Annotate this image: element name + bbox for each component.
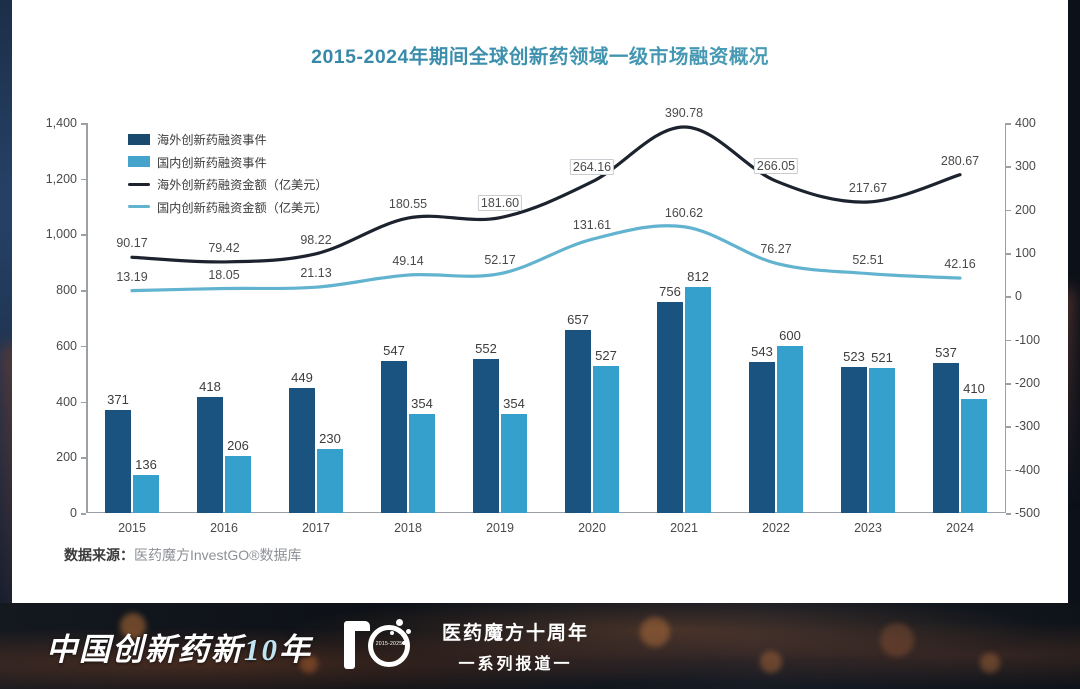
- bar-value-label: 552: [475, 341, 497, 356]
- y-axis-right-tick-label: -300: [1015, 419, 1040, 433]
- y-axis-right-tick-label: 400: [1015, 116, 1036, 130]
- screenshot-root: 2015-2024年期间全球创新药领域一级市场融资概况 海外创新药融资事件 国内…: [0, 0, 1080, 689]
- y-axis-right-tick: [1006, 210, 1011, 212]
- line-series-path: [132, 226, 960, 291]
- line-point-label: 181.60: [478, 195, 522, 211]
- y-axis-right-tick: [1006, 253, 1011, 255]
- banner-brand-suffix: 年: [279, 632, 312, 667]
- line-point-label: 131.61: [573, 218, 611, 232]
- line-point-label: 13.19: [116, 270, 147, 284]
- y-axis-left-tick-label: 600: [56, 339, 77, 353]
- x-axis-tick-label: 2015: [118, 521, 146, 535]
- bar-value-label: 521: [871, 350, 893, 365]
- line-series-path: [132, 127, 960, 262]
- bar-value-label: 756: [659, 284, 681, 299]
- source-label: 数据来源：: [64, 547, 134, 563]
- y-axis-right-tick-label: -200: [1015, 376, 1040, 390]
- y-axis-left-tick: [81, 513, 86, 515]
- y-axis-left-tick: [81, 179, 86, 181]
- bar-overseas-2022[interactable]: 543: [749, 362, 775, 513]
- y-axis-left-tick-label: 1,400: [46, 116, 77, 130]
- line-point-label: 180.55: [389, 197, 427, 211]
- line-point-label: 49.14: [392, 254, 423, 268]
- bar-overseas-2020[interactable]: 657: [565, 330, 591, 513]
- x-axis-tick-label: 2022: [762, 521, 790, 535]
- y-axis-left-tick: [81, 123, 86, 125]
- bar-overseas-2018[interactable]: 547: [381, 361, 407, 513]
- line-point-label: 79.42: [208, 241, 239, 255]
- line-point-label: 52.51: [852, 253, 883, 267]
- y-axis-right-tick: [1006, 166, 1011, 168]
- line-point-label: 42.16: [944, 257, 975, 271]
- y-axis-left-tick: [81, 402, 86, 404]
- bar-value-label: 537: [935, 345, 957, 360]
- y-axis-left-tick: [81, 457, 86, 459]
- bar-value-label: 657: [567, 312, 589, 327]
- bar-value-label: 418: [199, 379, 221, 394]
- bar-value-label: 354: [411, 396, 433, 411]
- x-axis-tick-label: 2018: [394, 521, 422, 535]
- banner-content: 中国创新药新10年 2015-2025 医药魔方十周年 一系列报道一: [0, 603, 1080, 689]
- line-point-label: 52.17: [484, 253, 515, 267]
- bar-overseas-2017[interactable]: 449: [289, 388, 315, 513]
- bar-value-label: 523: [843, 349, 865, 364]
- chart-card: 2015-2024年期间全球创新药领域一级市场融资概况 海外创新药融资事件 国内…: [12, 0, 1068, 603]
- y-axis-left-tick-label: 1,200: [46, 172, 77, 186]
- line-point-label: 264.16: [570, 159, 614, 175]
- y-axis-right-tick-label: 0: [1015, 289, 1022, 303]
- y-axis-right-tick: [1006, 296, 1011, 298]
- y-axis-right-tick: [1006, 340, 1011, 342]
- bar-value-label: 136: [135, 457, 157, 472]
- x-axis-tick-label: 2024: [946, 521, 974, 535]
- bar-value-label: 527: [595, 348, 617, 363]
- y-axis-right-tick: [1006, 383, 1011, 385]
- x-axis-tick-label: 2016: [210, 521, 238, 535]
- bar-domestic-2015[interactable]: 136: [133, 475, 159, 513]
- bar-overseas-2023[interactable]: 523: [841, 367, 867, 513]
- x-axis-tick-label: 2017: [302, 521, 330, 535]
- line-point-label: 160.62: [665, 206, 703, 220]
- bar-domestic-2022[interactable]: 600: [777, 346, 803, 513]
- line-point-label: 280.67: [941, 154, 979, 168]
- y-axis-right-tick-label: 300: [1015, 159, 1036, 173]
- line-point-label: 76.27: [760, 242, 791, 256]
- y-axis-right-tick-label: 100: [1015, 246, 1036, 260]
- banner-subbrand-line2: 一系列报道一: [459, 650, 573, 674]
- x-axis-tick-label: 2023: [854, 521, 882, 535]
- x-axis-tick-label: 2020: [578, 521, 606, 535]
- bar-domestic-2023[interactable]: 521: [869, 368, 895, 513]
- bar-overseas-2015[interactable]: 371: [105, 410, 131, 513]
- bar-domestic-2020[interactable]: 527: [593, 366, 619, 513]
- line-point-label: 21.13: [300, 266, 331, 280]
- bar-overseas-2024[interactable]: 537: [933, 363, 959, 513]
- bar-value-label: 812: [687, 269, 709, 284]
- banner-subbrand-line1: 医药魔方十周年: [442, 618, 589, 645]
- y-axis-left-tick-label: 400: [56, 395, 77, 409]
- bar-value-label: 354: [503, 396, 525, 411]
- bar-value-label: 371: [107, 392, 129, 407]
- chart-title: 2015-2024年期间全球创新药领域一级市场融资概况: [12, 40, 1068, 69]
- ten-year-logo-icon: 2015-2025: [338, 617, 416, 675]
- banner-subbrand: 医药魔方十周年 一系列报道一: [442, 618, 589, 674]
- banner-brand-title: 中国创新药新10年: [46, 624, 312, 669]
- y-axis-right-tick-label: 200: [1015, 203, 1036, 217]
- bar-value-label: 410: [963, 381, 985, 396]
- bar-value-label: 600: [779, 328, 801, 343]
- line-point-label: 98.22: [300, 233, 331, 247]
- source-note: 数据来源：医药魔方InvestGO®数据库: [64, 545, 301, 565]
- line-point-label: 266.05: [754, 158, 798, 174]
- banner-brand-prefix: 中国创新药新: [46, 632, 244, 667]
- bar-domestic-2021[interactable]: 812: [685, 287, 711, 513]
- y-axis-left-tick-label: 200: [56, 450, 77, 464]
- bar-domestic-2017[interactable]: 230: [317, 449, 343, 513]
- bar-value-label: 543: [751, 344, 773, 359]
- y-axis-right-tick: [1006, 513, 1011, 515]
- x-axis-tick-label: 2019: [486, 521, 514, 535]
- y-axis-right-tick-label: -500: [1015, 506, 1040, 520]
- logo-years: 2015-2025: [374, 641, 404, 647]
- bottom-banner: 中国创新药新10年 2015-2025 医药魔方十周年 一系列报道一: [0, 603, 1080, 689]
- y-axis-left-tick: [81, 290, 86, 292]
- y-axis-left-tick: [81, 346, 86, 348]
- bar-domestic-2016[interactable]: 206: [225, 456, 251, 513]
- y-axis-right-tick: [1006, 470, 1011, 472]
- bar-value-label: 449: [291, 370, 313, 385]
- bar-value-label: 206: [227, 438, 249, 453]
- bar-domestic-2024[interactable]: 410: [961, 399, 987, 513]
- line-point-label: 18.05: [208, 268, 239, 282]
- x-axis-tick-label: 2021: [670, 521, 698, 535]
- y-axis-left-tick-label: 0: [70, 506, 77, 520]
- source-value: 医药魔方InvestGO®数据库: [134, 547, 301, 563]
- y-axis-right-tick-label: -400: [1015, 463, 1040, 477]
- y-axis-left-tick-label: 1,000: [46, 227, 77, 241]
- plot-area: 02004006008001,0001,2001,400-500-400-300…: [86, 123, 1006, 513]
- y-axis-left-tick-label: 800: [56, 283, 77, 297]
- bar-overseas-2019[interactable]: 552: [473, 359, 499, 513]
- bar-overseas-2021[interactable]: 756: [657, 302, 683, 513]
- line-point-label: 90.17: [116, 236, 147, 250]
- bar-value-label: 230: [319, 431, 341, 446]
- y-axis-right-tick: [1006, 426, 1011, 428]
- y-axis-left-tick: [81, 234, 86, 236]
- bar-domestic-2018[interactable]: 354: [409, 414, 435, 513]
- logo-digit-one: [344, 621, 355, 669]
- bar-domestic-2019[interactable]: 354: [501, 414, 527, 513]
- bar-overseas-2016[interactable]: 418: [197, 397, 223, 513]
- line-point-label: 217.67: [849, 181, 887, 195]
- line-point-label: 390.78: [665, 106, 703, 120]
- y-axis-right-tick: [1006, 123, 1011, 125]
- banner-brand-ten: 10: [244, 632, 279, 667]
- bar-value-label: 547: [383, 343, 405, 358]
- y-axis-right-tick-label: -100: [1015, 333, 1040, 347]
